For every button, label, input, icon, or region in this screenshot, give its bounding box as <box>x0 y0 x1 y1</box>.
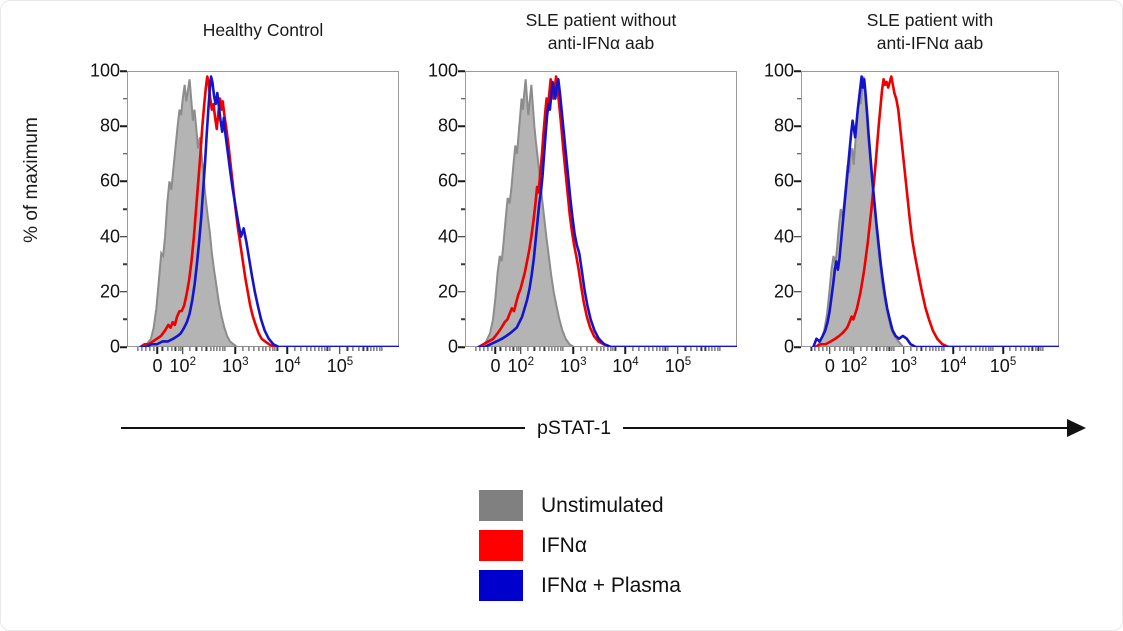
x-tick-minor <box>916 347 917 351</box>
y-tick-label: 80 <box>774 116 794 137</box>
x-tick-minor <box>610 347 611 351</box>
x-tick-minor <box>518 347 519 351</box>
x-tick-minor <box>834 347 835 351</box>
x-tick-minor <box>705 347 706 351</box>
x-tick-minor <box>162 347 163 351</box>
x-tick-minor <box>1028 347 1029 351</box>
x-tick-label: 103 <box>560 356 586 377</box>
y-tick-minor <box>123 153 127 155</box>
x-tick-minor <box>539 347 540 351</box>
x-tick-minor <box>843 347 844 351</box>
x-tick-minor <box>171 347 172 351</box>
x-axis-line-right <box>623 427 1084 430</box>
x-tick-minor <box>975 347 976 351</box>
x-tick-minor <box>475 347 476 351</box>
x-tick-minor <box>982 347 983 351</box>
x-tick-minor <box>224 347 225 351</box>
y-tick-major <box>458 181 465 183</box>
x-tick-minor <box>300 347 301 351</box>
legend-item: IFNα <box>479 530 681 561</box>
y-tick-minor <box>123 263 127 265</box>
legend-swatch <box>479 570 523 601</box>
x-tick-major <box>235 347 237 354</box>
y-tick-major <box>458 125 465 127</box>
x-tick-minor <box>272 347 273 351</box>
x-tick-minor <box>213 347 214 351</box>
x-tick-minor <box>846 347 847 351</box>
series-unstimulated <box>816 77 1059 347</box>
y-tick-label: 80 <box>438 116 458 137</box>
legend-item: IFNα + Plasma <box>479 570 681 601</box>
x-tick-minor <box>960 347 961 351</box>
plot-panel-healthy-control: 0204060801000102103104105 <box>127 71 399 347</box>
legend-item: Unstimulated <box>479 490 681 521</box>
x-tick-minor <box>715 347 716 351</box>
x-tick-minor <box>696 347 697 351</box>
x-tick-minor <box>347 347 348 351</box>
y-tick-minor <box>797 98 801 100</box>
x-tick-minor <box>985 347 986 351</box>
x-tick-minor <box>685 347 686 351</box>
x-tick-minor <box>154 347 155 351</box>
y-tick-minor <box>797 263 801 265</box>
x-tick-minor <box>839 347 840 351</box>
x-tick-label: 105 <box>990 356 1016 377</box>
y-tick-label: 40 <box>774 226 794 247</box>
x-tick-minor <box>277 347 278 351</box>
x-tick-major <box>495 347 497 354</box>
x-tick-minor <box>167 347 168 351</box>
x-tick-minor <box>562 347 563 351</box>
y-tick-major <box>794 236 801 238</box>
x-tick-major <box>157 347 159 354</box>
x-axis-caption: pSTAT-1 <box>525 417 623 440</box>
x-tick-minor <box>818 347 819 351</box>
legend-swatch <box>479 490 523 521</box>
x-tick-minor <box>551 347 552 351</box>
x-tick-minor <box>586 347 587 351</box>
x-tick-minor <box>659 347 660 351</box>
x-tick-minor <box>505 347 506 351</box>
x-tick-minor <box>815 347 816 351</box>
x-tick-minor <box>555 347 556 351</box>
x-tick-minor <box>667 347 668 351</box>
x-tick-minor <box>315 347 316 351</box>
x-tick-minor <box>306 347 307 351</box>
x-tick-minor <box>294 347 295 351</box>
x-tick-minor <box>262 347 263 351</box>
x-tick-minor <box>600 347 601 351</box>
x-tick-minor <box>665 347 666 351</box>
x-tick-minor <box>367 347 368 351</box>
x-tick-minor <box>849 347 850 351</box>
x-tick-minor <box>222 347 223 351</box>
x-tick-minor <box>921 347 922 351</box>
y-tick-major <box>458 70 465 72</box>
y-tick-major <box>794 346 801 348</box>
y-tick-major <box>120 181 127 183</box>
x-tick-minor <box>604 347 605 351</box>
y-tick-minor <box>461 208 465 210</box>
legend-swatch <box>479 530 523 561</box>
x-tick-minor <box>175 347 176 351</box>
x-tick-minor <box>615 347 616 351</box>
plot-panel-sle-without-aab: 0204060801000102103104105 <box>465 71 737 347</box>
x-tick-minor <box>492 347 493 351</box>
x-tick-minor <box>656 347 657 351</box>
x-tick-minor <box>382 347 383 351</box>
y-tick-minor <box>461 263 465 265</box>
x-tick-minor <box>311 347 312 351</box>
y-tick-label: 100 <box>764 61 794 82</box>
legend: UnstimulatedIFNαIFNα + Plasma <box>479 490 681 601</box>
y-tick-minor <box>797 208 801 210</box>
x-tick-minor <box>180 347 181 351</box>
x-tick-minor <box>580 347 581 351</box>
x-tick-major <box>903 347 905 354</box>
x-tick-minor <box>275 347 276 351</box>
x-tick-label: 104 <box>274 356 300 377</box>
x-tick-major <box>339 347 341 354</box>
x-tick-minor <box>613 347 614 351</box>
x-tick-minor <box>560 347 561 351</box>
x-tick-minor <box>717 347 718 351</box>
x-tick-minor <box>220 347 221 351</box>
y-tick-label: 20 <box>438 281 458 302</box>
y-tick-major <box>120 291 127 293</box>
x-tick-minor <box>248 347 249 351</box>
y-tick-label: 60 <box>774 171 794 192</box>
y-tick-major <box>794 181 801 183</box>
y-tick-major <box>120 346 127 348</box>
x-tick-minor <box>374 347 375 351</box>
x-tick-minor <box>880 347 881 351</box>
y-tick-label: 20 <box>100 281 120 302</box>
x-tick-minor <box>513 347 514 351</box>
plot-panel-sle-with-aab: 0204060801000102103104105 <box>801 71 1059 347</box>
x-tick-label: 102 <box>508 356 534 377</box>
x-tick-minor <box>596 347 597 351</box>
x-tick-minor <box>993 347 994 351</box>
x-tick-minor <box>269 347 270 351</box>
x-tick-minor <box>851 347 852 351</box>
x-tick-minor <box>1035 347 1036 351</box>
y-tick-minor <box>797 319 801 321</box>
y-tick-major <box>120 70 127 72</box>
legend-label: IFNα <box>541 534 587 558</box>
y-tick-major <box>458 236 465 238</box>
x-tick-minor <box>889 347 890 351</box>
y-tick-major <box>794 125 801 127</box>
x-tick-minor <box>548 347 549 351</box>
x-tick-minor <box>607 347 608 351</box>
arrow-head-icon <box>1067 419 1086 437</box>
x-tick-minor <box>509 347 510 351</box>
x-tick-minor <box>327 347 328 351</box>
x-tick-minor <box>1042 347 1043 351</box>
x-tick-minor <box>201 347 202 351</box>
x-tick-major <box>573 347 575 354</box>
histogram-plot <box>127 71 399 347</box>
y-tick-label: 0 <box>110 337 120 358</box>
x-tick-minor <box>479 347 480 351</box>
x-tick-label: 102 <box>170 356 196 377</box>
series-unstimulated <box>142 79 399 347</box>
histogram-plot <box>465 71 737 347</box>
x-tick-minor <box>649 347 650 351</box>
x-tick-minor <box>860 347 861 351</box>
x-tick-minor <box>137 347 138 351</box>
x-tick-major <box>287 347 289 354</box>
y-tick-major <box>458 291 465 293</box>
y-tick-label: 40 <box>438 226 458 247</box>
x-tick-minor <box>871 347 872 351</box>
x-tick-minor <box>966 347 967 351</box>
x-tick-minor <box>712 347 713 351</box>
y-tick-minor <box>461 153 465 155</box>
x-tick-label: 104 <box>940 356 966 377</box>
x-tick-minor <box>196 347 197 351</box>
figure-root: % of maximum Healthy Control020406080100… <box>0 0 1123 631</box>
x-tick-minor <box>662 347 663 351</box>
y-tick-minor <box>461 98 465 100</box>
x-tick-minor <box>1015 347 1016 351</box>
x-tick-minor <box>377 347 378 351</box>
x-tick-minor <box>358 347 359 351</box>
x-tick-minor <box>708 347 709 351</box>
x-tick-minor <box>500 347 501 351</box>
x-tick-label: 0 <box>490 356 500 377</box>
x-tick-minor <box>883 347 884 351</box>
x-tick-major <box>853 347 855 354</box>
x-tick-minor <box>379 347 380 351</box>
x-tick-label: 105 <box>665 356 691 377</box>
x-tick-minor <box>988 347 989 351</box>
x-tick-major <box>677 347 679 354</box>
x-tick-minor <box>941 347 942 351</box>
x-tick-minor <box>145 347 146 351</box>
x-tick-label: 103 <box>222 356 248 377</box>
x-tick-label: 0 <box>825 356 835 377</box>
x-tick-major <box>625 347 627 354</box>
x-tick-minor <box>266 347 267 351</box>
x-tick-minor <box>910 347 911 351</box>
x-tick-minor <box>891 347 892 351</box>
legend-label: Unstimulated <box>541 494 664 518</box>
x-tick-minor <box>1032 347 1033 351</box>
histogram-plot <box>801 71 1059 347</box>
y-tick-minor <box>123 98 127 100</box>
x-tick-minor <box>938 347 939 351</box>
x-tick-minor <box>253 347 254 351</box>
x-tick-major <box>829 347 831 354</box>
x-tick-minor <box>141 347 142 351</box>
x-tick-minor <box>653 347 654 351</box>
x-tick-minor <box>370 347 371 351</box>
y-tick-label: 20 <box>774 281 794 302</box>
y-tick-label: 40 <box>100 226 120 247</box>
panel-title-healthy-control: Healthy Control <box>87 19 439 42</box>
x-tick-minor <box>329 347 330 351</box>
x-tick-minor <box>822 347 823 351</box>
x-tick-minor <box>488 347 489 351</box>
x-tick-minor <box>886 347 887 351</box>
y-tick-label: 0 <box>784 337 794 358</box>
y-tick-label: 100 <box>90 61 120 82</box>
x-tick-minor <box>318 347 319 351</box>
x-tick-minor <box>242 347 243 351</box>
y-tick-label: 60 <box>438 171 458 192</box>
x-tick-minor <box>558 347 559 351</box>
x-tick-minor <box>353 347 354 351</box>
legend-label: IFNα + Plasma <box>541 574 681 598</box>
y-tick-minor <box>461 319 465 321</box>
x-tick-major <box>182 347 184 354</box>
x-tick-minor <box>321 347 322 351</box>
x-tick-minor <box>1040 347 1041 351</box>
y-tick-major <box>794 70 801 72</box>
y-axis-caption: % of maximum <box>21 75 43 285</box>
x-tick-minor <box>483 347 484 351</box>
y-tick-label: 100 <box>428 61 458 82</box>
x-tick-minor <box>534 347 535 351</box>
x-axis-arrow-row: pSTAT-1 <box>121 413 1084 443</box>
x-tick-label: 104 <box>612 356 638 377</box>
x-tick-minor <box>991 347 992 351</box>
x-tick-minor <box>1020 347 1021 351</box>
x-tick-minor <box>258 347 259 351</box>
x-tick-minor <box>876 347 877 351</box>
x-tick-label: 103 <box>890 356 916 377</box>
series-unstimulated <box>481 79 736 347</box>
x-tick-minor <box>1009 347 1010 351</box>
x-tick-label: 0 <box>152 356 162 377</box>
x-tick-minor <box>150 347 151 351</box>
x-tick-minor <box>363 347 364 351</box>
x-tick-label: 102 <box>841 356 867 377</box>
x-tick-minor <box>925 347 926 351</box>
x-tick-minor <box>933 347 934 351</box>
x-tick-minor <box>644 347 645 351</box>
x-tick-minor <box>217 347 218 351</box>
x-tick-minor <box>632 347 633 351</box>
x-tick-minor <box>971 347 972 351</box>
x-tick-minor <box>1038 347 1039 351</box>
y-tick-major <box>120 125 127 127</box>
x-tick-minor <box>936 347 937 351</box>
x-tick-minor <box>979 347 980 351</box>
x-tick-minor <box>691 347 692 351</box>
x-tick-minor <box>811 347 812 351</box>
x-tick-minor <box>178 347 179 351</box>
x-tick-minor <box>516 347 517 351</box>
x-axis-line-left <box>121 427 525 430</box>
x-tick-minor <box>929 347 930 351</box>
y-tick-major <box>120 236 127 238</box>
y-tick-minor <box>123 208 127 210</box>
y-tick-label: 80 <box>100 116 120 137</box>
x-tick-minor <box>943 347 944 351</box>
panel-title-sle-with-aab: SLE patient with anti-IFNα aab <box>761 9 1099 55</box>
x-tick-label: 105 <box>327 356 353 377</box>
y-tick-minor <box>123 319 127 321</box>
x-tick-minor <box>893 347 894 351</box>
x-tick-minor <box>826 347 827 351</box>
x-tick-minor <box>210 347 211 351</box>
y-tick-major <box>794 291 801 293</box>
panel-title-sle-without-aab: SLE patient without anti-IFNα aab <box>425 9 777 55</box>
x-tick-minor <box>701 347 702 351</box>
y-tick-minor <box>797 153 801 155</box>
x-tick-major <box>520 347 522 354</box>
x-tick-minor <box>591 347 592 351</box>
x-tick-minor <box>206 347 207 351</box>
x-tick-minor <box>1025 347 1026 351</box>
y-tick-major <box>458 346 465 348</box>
x-tick-minor <box>866 347 867 351</box>
x-tick-minor <box>638 347 639 351</box>
x-tick-minor <box>544 347 545 351</box>
x-tick-major <box>1002 347 1004 354</box>
y-tick-label: 0 <box>448 337 458 358</box>
x-tick-minor <box>720 347 721 351</box>
x-tick-minor <box>190 347 191 351</box>
x-tick-minor <box>324 347 325 351</box>
y-tick-label: 60 <box>100 171 120 192</box>
x-tick-minor <box>528 347 529 351</box>
x-tick-major <box>952 347 954 354</box>
